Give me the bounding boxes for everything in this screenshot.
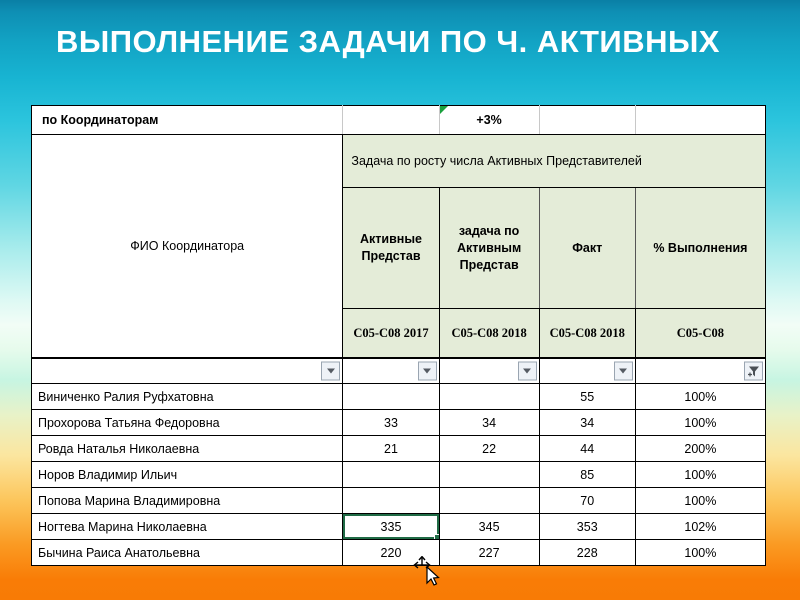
fill-handle[interactable] (434, 534, 440, 540)
table-row: Виниченко Ралия Руфхатовна 55 100% (32, 384, 766, 410)
period-active-represent: С05-С08 2017 (343, 309, 439, 359)
cell-task-2018[interactable]: 345 (439, 514, 539, 540)
filter-cell-task[interactable] (439, 358, 539, 384)
cell-task-2018[interactable]: 22 (439, 436, 539, 462)
table-row: Попова Марина Владимировна 70 100% (32, 488, 766, 514)
cell-percent[interactable]: 100% (635, 488, 765, 514)
table-row: Ровда Наталья Николаевна 21 22 44 200% (32, 436, 766, 462)
table-row: Ногтева Марина Николаевна 335 345 353 10… (32, 514, 766, 540)
cell-task-2018[interactable]: 227 (439, 540, 539, 566)
cell-task-2018[interactable] (439, 462, 539, 488)
cell-fact-2018[interactable]: 44 (539, 436, 635, 462)
cell-fact-2018[interactable]: 55 (539, 384, 635, 410)
funnel-filter-icon (747, 365, 760, 378)
cell-fact-2018[interactable]: 353 (539, 514, 635, 540)
top-blank-cell-2[interactable] (539, 106, 635, 135)
table-row: Прохорова Татьяна Федоровна 33 34 34 100… (32, 410, 766, 436)
cell-active-2017[interactable] (343, 384, 439, 410)
person-name[interactable]: Виниченко Ралия Руфхатовна (32, 384, 343, 410)
cell-fact-2018[interactable]: 34 (539, 410, 635, 436)
top-blank-cell-1[interactable] (343, 106, 439, 135)
filter-cell-active[interactable] (343, 358, 439, 384)
cell-active-2017[interactable]: 220 (343, 540, 439, 566)
cell-percent[interactable]: 100% (635, 384, 765, 410)
cell-task-2018[interactable] (439, 488, 539, 514)
person-name[interactable]: Попова Марина Владимировна (32, 488, 343, 514)
table-row: Бычина Раиса Анатольевна 220 227 228 100… (32, 540, 766, 566)
cell-percent[interactable]: 100% (635, 410, 765, 436)
cell-percent[interactable]: 102% (635, 514, 765, 540)
person-name[interactable]: Бычина Раиса Анатольевна (32, 540, 343, 566)
filter-button-active[interactable] (418, 362, 437, 381)
period-fact: С05-С08 2018 (539, 309, 635, 359)
selected-cell-active-2017[interactable]: 335 (343, 514, 439, 540)
spreadsheet-table: по Координаторам +3% ФИО Координатора За… (31, 105, 766, 566)
period-task-active-represent: С05-С08 2018 (439, 309, 539, 359)
growth-target-value: +3% (476, 113, 501, 127)
filter-button-percent-active[interactable] (744, 362, 763, 381)
group-header-row: ФИО Координатора Задача по росту числа А… (32, 135, 766, 188)
sheet-top-row: по Координаторам +3% (32, 106, 766, 135)
person-name[interactable]: Ногтева Марина Николаевна (32, 514, 343, 540)
row-label-header: ФИО Координатора (32, 135, 343, 359)
slide-canvas: ВЫПОЛНЕНИЕ ЗАДАЧИ ПО Ч. АКТИВНЫХ по Коор… (0, 0, 800, 600)
chevron-down-icon (327, 369, 335, 374)
person-name[interactable]: Ровда Наталья Николаевна (32, 436, 343, 462)
filter-row (32, 358, 766, 384)
filter-button-task[interactable] (518, 362, 537, 381)
chevron-down-icon (619, 369, 627, 374)
cell-active-2017[interactable]: 21 (343, 436, 439, 462)
period-percent-complete: С05-С08 (635, 309, 765, 359)
coordinators-label: по Координаторам (32, 106, 343, 135)
cell-percent[interactable]: 100% (635, 462, 765, 488)
person-name[interactable]: Норов Владимир Ильич (32, 462, 343, 488)
top-blank-cell-3[interactable] (635, 106, 765, 135)
column-header-active-represent: Активные Представ (343, 188, 439, 309)
comment-flag-icon (440, 106, 448, 114)
chevron-down-icon (423, 369, 431, 374)
column-header-fact: Факт (539, 188, 635, 309)
cell-active-2017[interactable] (343, 488, 439, 514)
growth-target-cell[interactable]: +3% (439, 106, 539, 135)
person-name[interactable]: Прохорова Татьяна Федоровна (32, 410, 343, 436)
cell-fact-2018[interactable]: 228 (539, 540, 635, 566)
column-header-percent-complete: % Выполнения (635, 188, 765, 309)
chevron-down-icon (523, 369, 531, 374)
filter-cell-name[interactable] (32, 358, 343, 384)
cell-fact-2018[interactable]: 85 (539, 462, 635, 488)
page-title: ВЫПОЛНЕНИЕ ЗАДАЧИ ПО Ч. АКТИВНЫХ (56, 24, 756, 60)
cell-task-2018[interactable] (439, 384, 539, 410)
selected-cell-value: 335 (381, 520, 402, 534)
filter-button-fact[interactable] (614, 362, 633, 381)
column-header-task-active-represent: задача по Активным Представ (439, 188, 539, 309)
cell-active-2017[interactable]: 33 (343, 410, 439, 436)
cell-percent[interactable]: 100% (635, 540, 765, 566)
cell-fact-2018[interactable]: 70 (539, 488, 635, 514)
filter-button-name[interactable] (321, 362, 340, 381)
table-row: Норов Владимир Ильич 85 100% (32, 462, 766, 488)
filter-cell-percent[interactable] (635, 358, 765, 384)
filter-cell-fact[interactable] (539, 358, 635, 384)
cell-active-2017[interactable] (343, 462, 439, 488)
cell-task-2018[interactable]: 34 (439, 410, 539, 436)
cell-percent[interactable]: 200% (635, 436, 765, 462)
group-header-label: Задача по росту числа Активных Представи… (343, 135, 766, 188)
